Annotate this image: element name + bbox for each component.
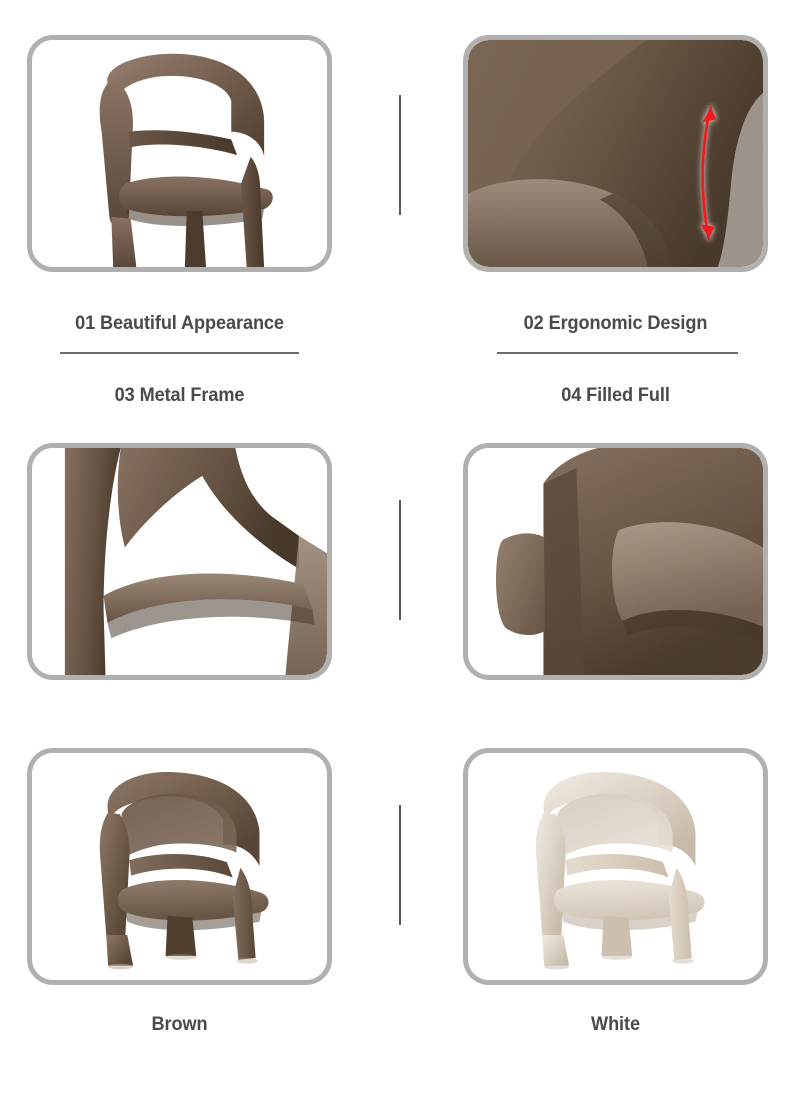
chair-photo-filled-full	[468, 448, 763, 675]
colorway-card-brown	[27, 748, 332, 985]
caption-rule-right	[497, 352, 738, 354]
colorway-card-white	[463, 748, 768, 985]
feature-card-03	[27, 443, 332, 680]
chair-photo-beautiful-appearance	[32, 40, 327, 267]
column-divider-row-1	[399, 95, 401, 215]
feature-card-01	[27, 35, 332, 272]
feature-image-01	[32, 40, 327, 267]
feature-image-02	[468, 40, 763, 267]
caption-feature-04: 04 Filled Full	[474, 384, 758, 407]
caption-feature-01: 01 Beautiful Appearance	[38, 312, 322, 335]
caption-feature-02: 02 Ergonomic Design	[474, 312, 758, 335]
chair-photo-brown-full	[32, 753, 327, 980]
chair-photo-white-full	[468, 753, 763, 980]
column-divider-row-3	[399, 805, 401, 925]
caption-colorway-white: White	[474, 1013, 758, 1036]
caption-feature-03: 03 Metal Frame	[38, 384, 322, 407]
chair-photo-metal-frame	[32, 448, 327, 675]
colorway-image-white	[468, 753, 763, 980]
feature-image-04	[468, 448, 763, 675]
caption-colorway-brown: Brown	[38, 1013, 322, 1036]
caption-rule-left	[60, 352, 299, 354]
feature-card-04	[463, 443, 768, 680]
feature-image-03	[32, 448, 327, 675]
chair-photo-ergonomic-design	[468, 40, 763, 267]
feature-card-02	[463, 35, 768, 272]
colorway-image-brown	[32, 753, 327, 980]
column-divider-row-2	[399, 500, 401, 620]
product-feature-grid: 01 Beautiful Appearance 02 Ergonomic Des…	[0, 0, 800, 1114]
